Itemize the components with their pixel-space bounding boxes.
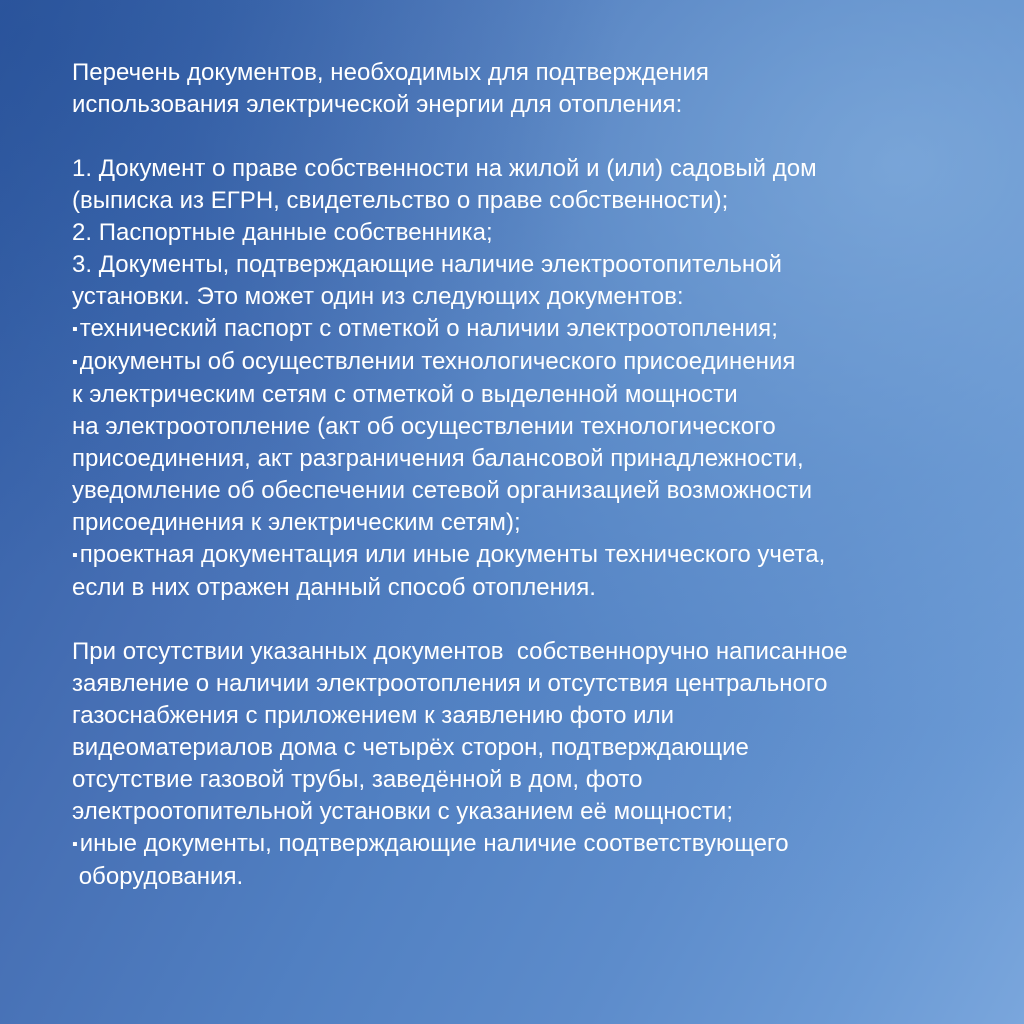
bullet-item-tech-connection-cont-3: присоединения, акт разграничения балансо… bbox=[72, 443, 972, 475]
closing-paragraph-line-2: заявление о наличии электроотопления и о… bbox=[72, 668, 972, 700]
bullet-item-tech-connection-label: документы об осуществлении технологическ… bbox=[80, 348, 796, 375]
bullet-item-tech-passport: ▪технический паспорт с отметкой о наличи… bbox=[72, 313, 972, 346]
closing-paragraph-line-3: газоснабжения с приложением к заявлению … bbox=[72, 700, 972, 732]
bullet-item-tech-connection: ▪документы об осуществлении технологичес… bbox=[72, 346, 972, 379]
bullet-item-other-docs: ▪иные документы, подтверждающие наличие … bbox=[72, 828, 972, 861]
numbered-item-1-continuation: (выписка из ЕГРН, свидетельство о праве … bbox=[72, 185, 972, 217]
square-bullet-icon: ▪ bbox=[72, 354, 78, 371]
bullet-item-project-docs: ▪проектная документация или иные докумен… bbox=[72, 539, 972, 572]
numbered-item-3: 3. Документы, подтверждающие наличие эле… bbox=[72, 249, 972, 281]
bullet-item-other-docs-continuation: оборудования. bbox=[72, 861, 972, 893]
square-bullet-icon: ▪ bbox=[72, 547, 78, 564]
bullet-item-tech-passport-label: технический паспорт с отметкой о наличии… bbox=[80, 315, 778, 342]
closing-paragraph-line-4: видеоматериалов дома с четырёх сторон, п… bbox=[72, 732, 972, 764]
slide-text-body: Перечень документов, необходимых для под… bbox=[72, 57, 972, 893]
bullet-item-tech-connection-cont-1: к электрическим сетям с отметкой о выдел… bbox=[72, 379, 972, 411]
bullet-item-other-docs-label: иные документы, подтверждающие наличие с… bbox=[80, 830, 789, 857]
bullet-item-project-docs-continuation: если в них отражен данный способ отоплен… bbox=[72, 572, 972, 604]
numbered-item-2: 2. Паспортные данные собственника; bbox=[72, 217, 972, 249]
spacer-after-heading bbox=[72, 121, 972, 153]
spacer-before-closing-paragraph bbox=[72, 604, 972, 636]
numbered-item-3-continuation: установки. Это может один из следующих д… bbox=[72, 281, 972, 313]
heading-line-1: Перечень документов, необходимых для под… bbox=[72, 57, 972, 89]
bullet-item-tech-connection-cont-5: присоединения к электрическим сетям); bbox=[72, 507, 972, 539]
square-bullet-icon: ▪ bbox=[72, 321, 78, 338]
heading-line-2: использования электрической энергии для … bbox=[72, 89, 972, 121]
bullet-item-tech-connection-cont-4: уведомление об обеспечении сетевой орган… bbox=[72, 475, 972, 507]
slide-canvas: Перечень документов, необходимых для под… bbox=[0, 0, 1024, 1024]
closing-paragraph-line-6: электроотопительной установки с указание… bbox=[72, 796, 972, 828]
bullet-item-tech-connection-cont-2: на электроотопление (акт об осуществлени… bbox=[72, 411, 972, 443]
bullet-item-project-docs-label: проектная документация или иные документ… bbox=[80, 541, 826, 568]
closing-paragraph-line-1: При отсутствии указанных документов собс… bbox=[72, 636, 972, 668]
closing-paragraph-line-5: отсутствие газовой трубы, заведённой в д… bbox=[72, 764, 972, 796]
numbered-item-1: 1. Документ о праве собственности на жил… bbox=[72, 153, 972, 185]
square-bullet-icon: ▪ bbox=[72, 836, 78, 853]
